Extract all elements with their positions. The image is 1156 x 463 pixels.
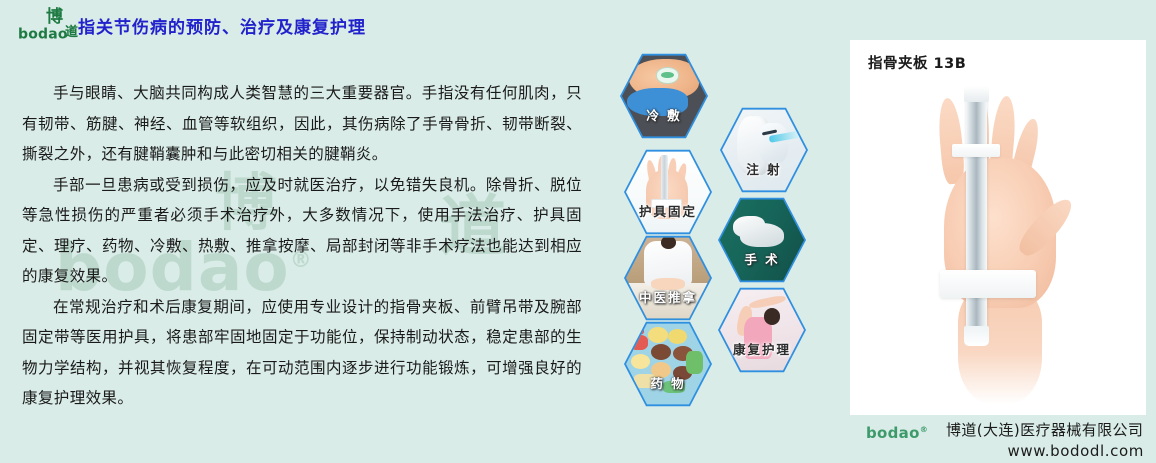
page-footer: bodao® 博道(大连)医疗器械有限公司 www.bododl.com [850,420,1150,462]
treatment-hex-tuina-massage[interactable]: 中医推拿 [624,234,712,322]
logo-wordmark-text: bodao [18,27,68,43]
treatment-label-injection: 注 射 [720,159,808,178]
product-title: 指骨夹板 13B [868,52,966,73]
article-paragraph-3: 在常规治疗和术后康复期间，应使用专业设计的指骨夹板、前臂吊带及腕部固定带等医用护… [22,292,582,414]
treatment-hex-brace-fixation[interactable]: 护具固定 [624,148,712,236]
medication-icon [626,322,710,406]
injection-icon [722,108,806,192]
article-body: 手与眼睛、大脑共同构成人类智慧的三大重要器官。手指没有任何肌肉，只有韧带、筋腱、… [22,78,582,414]
finger-splint-foot [964,326,989,346]
treatment-label-rehabilitation: 康复护理 [718,339,806,358]
tuina-massage-icon [626,236,710,320]
footer-website-url[interactable]: www.bododl.com [1008,441,1145,461]
treatment-label-brace-fixation: 护具固定 [624,201,712,220]
finger-strap [952,144,1000,157]
treatment-hex-cold-compress[interactable]: 冷 敷 [620,52,708,140]
article-paragraph-1: 手与眼睛、大脑共同构成人类智慧的三大重要器官。手指没有任何肌肉，只有韧带、筋腱、… [22,78,582,170]
cold-compress-icon [622,54,706,138]
finger-splint-bar [966,90,987,340]
surgery-icon [720,198,804,282]
treatment-label-surgery: 手 术 [718,249,806,268]
treatment-hex-cluster: 冷 敷 注 射 护具固定 手 术 中医推拿 康复护理 [612,44,824,416]
treatment-hex-medication[interactable]: 药 物 [624,320,712,408]
footer-registered-icon: ® [920,425,928,434]
article-paragraph-2: 手部一旦患病或受到损伤，应及时就医治疗，以免错失良机。除骨折、脱位等急性损伤的严… [22,170,582,292]
wrist-strap [940,270,1036,298]
treatment-hex-injection[interactable]: 注 射 [720,106,808,194]
product-image [874,74,1124,404]
finger-splint-cap [964,86,989,102]
page-title: 指关节伤病的预防、治疗及康复护理 [78,17,366,39]
brace-fixation-icon [626,150,710,234]
treatment-label-medication: 药 物 [624,373,712,392]
brand-logo[interactable]: 博 bodao® 道 [18,6,80,44]
product-card: 指骨夹板 13B [850,40,1146,415]
treatment-hex-surgery[interactable]: 手 术 [718,196,806,284]
footer-company-name: 博道(大连)医疗器械有限公司 [946,420,1143,440]
treatment-label-cold-compress: 冷 敷 [620,105,708,124]
footer-logo: bodao® [866,420,928,443]
treatment-hex-rehabilitation[interactable]: 康复护理 [718,286,806,374]
rehabilitation-icon [720,288,804,372]
treatment-label-tuina-massage: 中医推拿 [624,287,712,306]
footer-logo-text: bodao [866,424,920,442]
index-finger [936,97,965,185]
